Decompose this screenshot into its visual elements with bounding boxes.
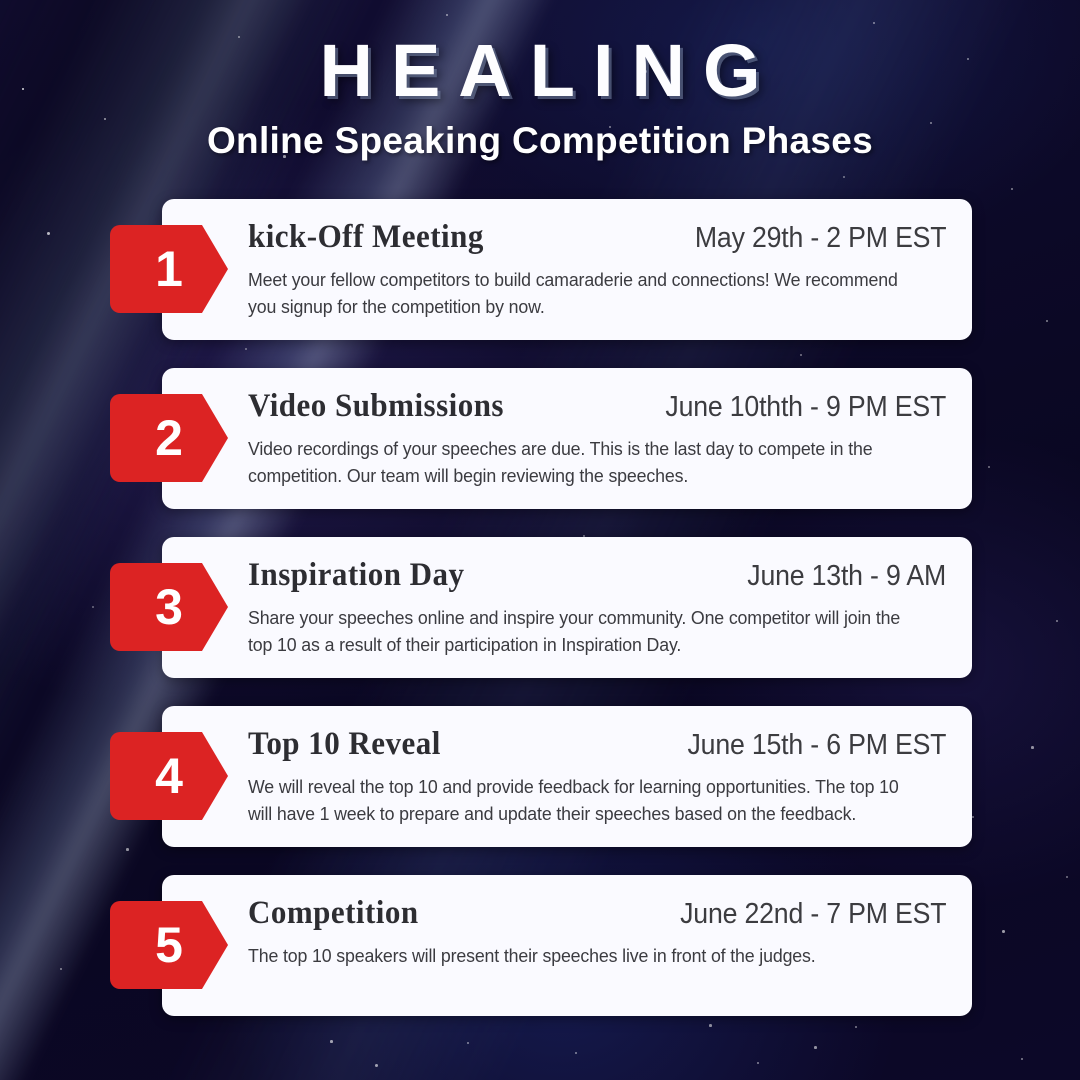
phase-description: Meet your fellow competitors to build ca…	[248, 267, 910, 321]
phase-number: 3	[110, 563, 206, 651]
phase-description: The top 10 speakers will present their s…	[248, 943, 910, 970]
phase-number-badge[interactable]: 1	[110, 225, 228, 313]
phase-card-content: CompetitionJune 22nd - 7 PM ESTThe top 1…	[248, 895, 946, 970]
phase-list: kick-Off MeetingMay 29th - 2 PM ESTMeet …	[0, 199, 1080, 1044]
phase-card[interactable]: Top 10 RevealJune 15th - 6 PM ESTWe will…	[162, 706, 972, 847]
phase-date: June 10thth - 9 PM EST	[665, 391, 946, 424]
phase-date: June 22nd - 7 PM EST	[680, 898, 946, 931]
phase-date: May 29th - 2 PM EST	[694, 222, 946, 255]
phase-title: Inspiration Day	[248, 557, 464, 594]
phase-card-content: Video SubmissionsJune 10thth - 9 PM ESTV…	[248, 388, 946, 490]
star-dot	[575, 1052, 577, 1054]
page-title: HEALING	[0, 0, 1080, 110]
phase-description: Video recordings of your speeches are du…	[248, 436, 910, 490]
phase-description: Share your speeches online and inspire y…	[248, 605, 910, 659]
phase-card[interactable]: Inspiration DayJune 13th - 9 AMShare you…	[162, 537, 972, 678]
star-dot	[814, 1046, 817, 1049]
phase-title: Top 10 Reveal	[248, 726, 441, 763]
phase-card-header: Inspiration DayJune 13th - 9 AM	[248, 557, 946, 594]
phase-number-badge[interactable]: 3	[110, 563, 228, 651]
phase-row: CompetitionJune 22nd - 7 PM ESTThe top 1…	[0, 875, 1080, 1016]
phase-number: 5	[110, 901, 206, 989]
phase-row: Top 10 RevealJune 15th - 6 PM ESTWe will…	[0, 706, 1080, 847]
phase-number: 2	[110, 394, 206, 482]
phase-number-badge[interactable]: 5	[110, 901, 228, 989]
phase-card-header: CompetitionJune 22nd - 7 PM EST	[248, 895, 946, 932]
phase-card-header: kick-Off MeetingMay 29th - 2 PM EST	[248, 219, 946, 256]
phase-title: Competition	[248, 895, 419, 932]
phase-card-header: Top 10 RevealJune 15th - 6 PM EST	[248, 726, 946, 763]
phase-date: June 13th - 9 AM	[747, 560, 946, 593]
star-dot	[843, 176, 845, 178]
phase-row: Video SubmissionsJune 10thth - 9 PM ESTV…	[0, 368, 1080, 509]
phase-number-badge[interactable]: 2	[110, 394, 228, 482]
phase-description: We will reveal the top 10 and provide fe…	[248, 774, 910, 828]
phase-row: Inspiration DayJune 13th - 9 AMShare you…	[0, 537, 1080, 678]
phase-card-header: Video SubmissionsJune 10thth - 9 PM EST	[248, 388, 946, 425]
star-dot	[375, 1064, 378, 1067]
star-dot	[1011, 188, 1013, 190]
phase-date: June 15th - 6 PM EST	[687, 729, 946, 762]
phase-card[interactable]: CompetitionJune 22nd - 7 PM ESTThe top 1…	[162, 875, 972, 1016]
phase-number-badge[interactable]: 4	[110, 732, 228, 820]
phase-title: Video Submissions	[248, 388, 504, 425]
phase-card[interactable]: kick-Off MeetingMay 29th - 2 PM ESTMeet …	[162, 199, 972, 340]
phase-number: 1	[110, 225, 206, 313]
star-dot	[1021, 1058, 1023, 1060]
phase-card[interactable]: Video SubmissionsJune 10thth - 9 PM ESTV…	[162, 368, 972, 509]
phase-card-content: kick-Off MeetingMay 29th - 2 PM ESTMeet …	[248, 219, 946, 321]
phase-number: 4	[110, 732, 206, 820]
phase-row: kick-Off MeetingMay 29th - 2 PM ESTMeet …	[0, 199, 1080, 340]
poster-header: HEALING Online Speaking Competition Phas…	[0, 0, 1080, 162]
poster-canvas: HEALING Online Speaking Competition Phas…	[0, 0, 1080, 1080]
page-subtitle: Online Speaking Competition Phases	[0, 110, 1080, 162]
phase-title: kick-Off Meeting	[248, 219, 484, 256]
phase-card-content: Top 10 RevealJune 15th - 6 PM ESTWe will…	[248, 726, 946, 828]
phase-card-content: Inspiration DayJune 13th - 9 AMShare you…	[248, 557, 946, 659]
star-dot	[757, 1062, 759, 1064]
